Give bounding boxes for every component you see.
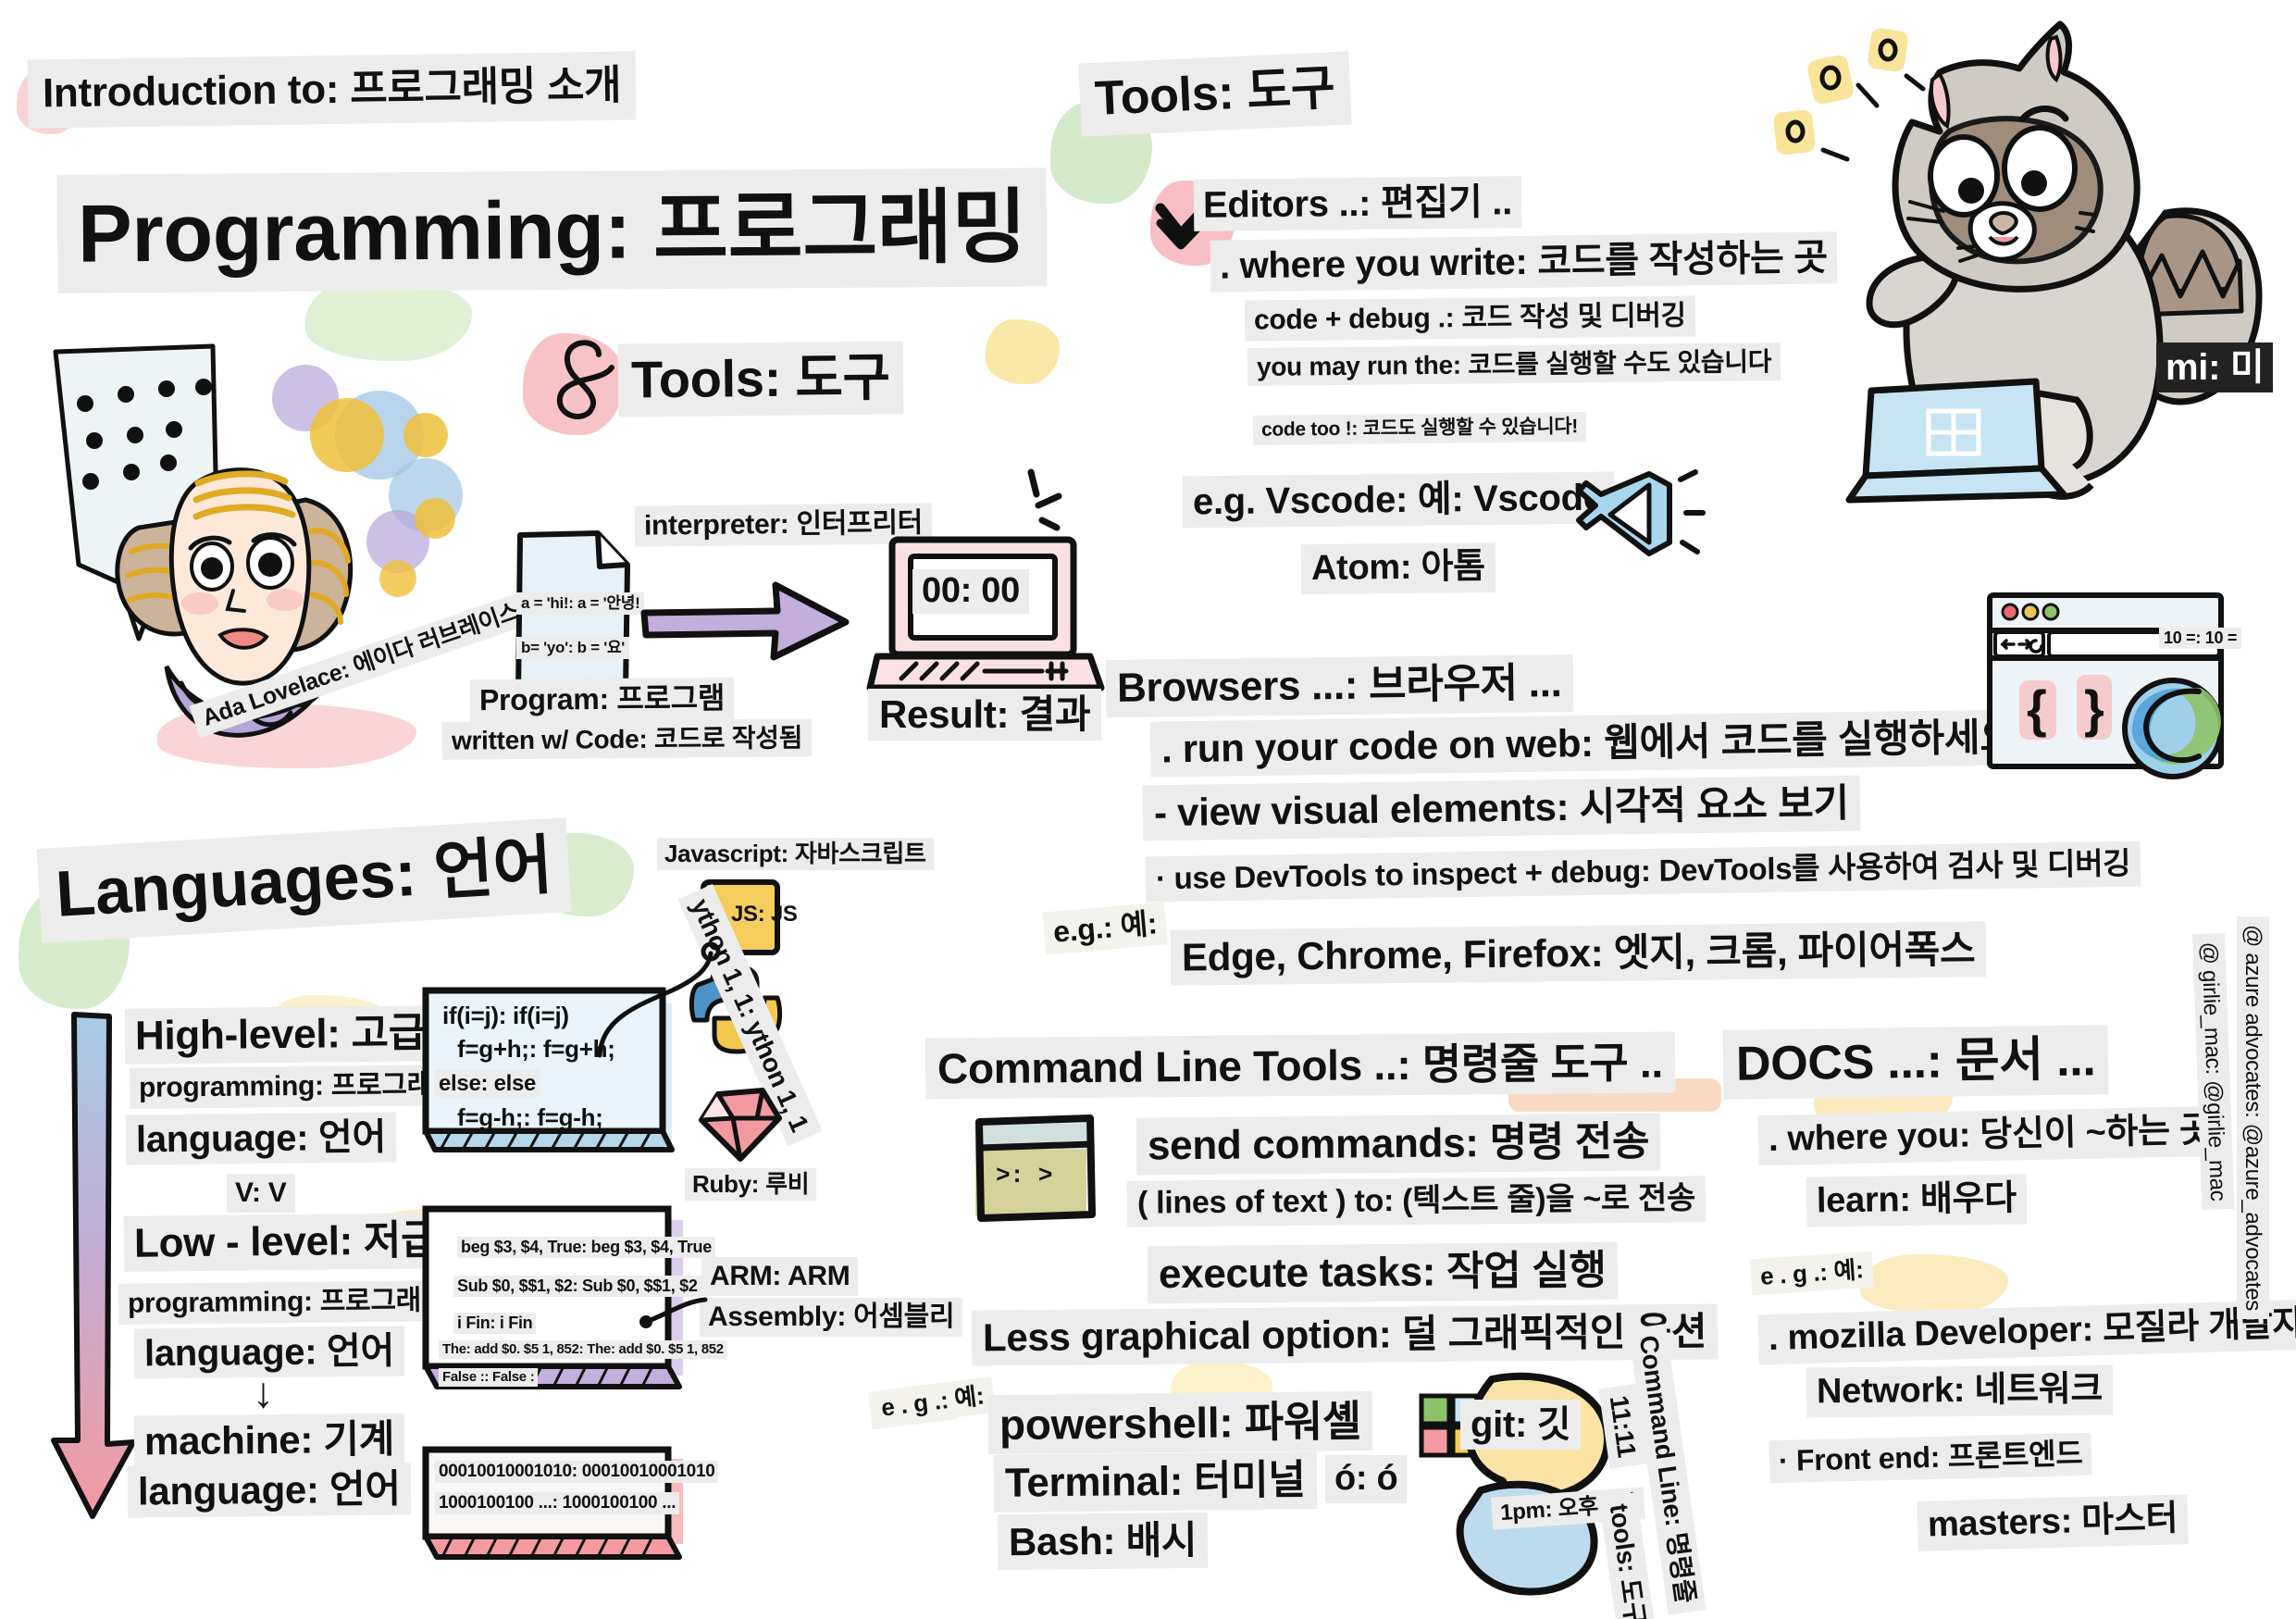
assembly-label: Assembly: 어셈블리 — [700, 1298, 962, 1337]
javascript-tile-label: JS: JS — [724, 901, 805, 928]
editors-heading: Editors ..: 편집기 .. — [1194, 176, 1521, 231]
git-bubble-label: git: 깃 — [1460, 1400, 1581, 1450]
assembly-code-line-4: The: add $0. $5 1, 852: The: add $0. $5 … — [439, 1340, 727, 1359]
editors-line-1: . where you write: 코드를 작성하는 곳 — [1210, 231, 1838, 292]
ampersand-flourish-icon — [541, 338, 615, 421]
docs-example-network: Network: 네트워크 — [1806, 1365, 2114, 1418]
credit-azure-advocates: @ azure advocates: @azure_advocates — [2237, 916, 2269, 1319]
program-sub-label: written w/ Code: 코드로 작성됨 — [442, 718, 812, 760]
arm-label: ARM: ARM — [701, 1257, 858, 1296]
language-level-high-language: language: 언어 — [126, 1112, 397, 1164]
program-label: Program: 프로그램 — [470, 678, 734, 722]
browsers-eg-tag: e.g.: 예: — [1042, 902, 1168, 954]
browsers-heading: Browsers ...: 브라우저 ... — [1106, 654, 1573, 717]
browsers-line-1: . run your code on web: 웹에서 코드를 실행하세요 — [1150, 709, 2027, 777]
high-level-code-line-4: f=g-h;: f=g-h; — [453, 1103, 607, 1132]
intro-tools-label: Tools: 도구 — [618, 341, 904, 417]
program-code-line-2: b= 'yo': b = '요' — [516, 637, 629, 659]
editors-line-4: code too !: 코드도 실행할 수 있습니다! — [1253, 412, 1586, 445]
docs-line-2: learn: 배우다 — [1806, 1174, 2028, 1227]
assembly-code-line-3: i Fin: i Fin — [453, 1313, 536, 1334]
javascript-label: Javascript: 자바스크립트 — [657, 838, 934, 870]
terminal-prompt-text: >: > — [988, 1162, 1060, 1190]
languages-heading: Languages: 언어 — [36, 817, 571, 942]
highlight-blob-yellow-1 — [986, 319, 1060, 384]
browsers-line-3: · use DevTools to inspect + debug: DevTo… — [1146, 841, 2141, 903]
sketchnote-canvas: Introduction to: 프로그래밍 소개 Programming: 프… — [0, 0, 2296, 1619]
tools-heading: Tools: 도구 — [1078, 51, 1351, 136]
browsers-line-2: - view visual elements: 시각적 요소 보기 — [1143, 776, 1861, 841]
assembly-code-line-1: beg $3, $4, True: beg $3, $4, True — [457, 1237, 715, 1258]
editors-line-2: code + debug .: 코드 작성 및 디버깅 — [1245, 295, 1695, 341]
result-label: Result: 결과 — [868, 689, 1101, 741]
result-screen-value: 00: 00 — [912, 569, 1029, 614]
intro-kicker: Introduction to: 프로그래밍 소개 — [28, 51, 637, 128]
browser-url-value: 10 =: 10 = — [2159, 628, 2241, 649]
page-title: Programming: 프로그래밍 — [57, 168, 1048, 293]
editors-example-atom: Atom: 아톰 — [1301, 542, 1496, 594]
language-level-low: Low - level: 저급 — [124, 1213, 449, 1272]
assembly-code-line-5: False :: False : — [439, 1368, 538, 1387]
program-code-line-1: a = 'hi!: a = '안녕! — [516, 592, 644, 615]
cli-example-powershell: powershell: 파워셸 — [988, 1391, 1373, 1455]
terminal-time-value: ó: ó — [1325, 1455, 1407, 1503]
docs-example-mozilla: . mozilla Developer: 모질라 개발자 — [1757, 1300, 2296, 1365]
high-level-code-line-1: if(i=j): if(i=j) — [439, 1002, 573, 1030]
cli-line-2: ( lines of text ) to: (텍스트 줄)을 ~로 전송 — [1127, 1176, 1706, 1227]
cli-line-1: send commands: 명령 전송 — [1136, 1114, 1661, 1176]
highlight-blob-yellow-4 — [1860, 1254, 2008, 1314]
browser-window-illustration: { } — [1980, 588, 2258, 782]
ruby-label: Ruby: 루비 — [685, 1168, 816, 1201]
cli-line-3: execute tasks: 작업 실행 — [1148, 1242, 1618, 1304]
language-level-v: V: V — [227, 1174, 295, 1213]
editors-line-3: you may run the: 코드를 실행할 수도 있습니다 — [1247, 342, 1781, 386]
svg-text:{: { — [2027, 679, 2047, 738]
language-level-machine-language: language: 언어 — [128, 1463, 411, 1517]
binary-code-line-1: 00010010001010: 00010010001010 — [435, 1461, 718, 1483]
binary-code-line-2: 1000100100 ...: 1000100100 ... — [435, 1492, 679, 1514]
credit-girlie-mac: @ girlie_mac: @girlie_mac — [2192, 933, 2235, 1210]
assembly-pointer-icon — [639, 1292, 713, 1339]
language-level-low-programming: programming: 프로그래밍 — [118, 1280, 456, 1324]
program-paper-illustration — [509, 528, 639, 704]
ruby-logo-icon — [694, 1081, 787, 1169]
language-level-machine: machine: 기계 — [134, 1413, 405, 1467]
vscode-logo-icon — [1573, 463, 1684, 565]
result-laptop-illustration — [870, 532, 1101, 708]
docs-heading: DOCS ...: 문서 ... — [1722, 1025, 2108, 1099]
language-level-high-programming: programming: 프로그래밍 — [130, 1065, 467, 1108]
editors-example-vscode: e.g. Vscode: 예: Vscode — [1183, 472, 1614, 529]
sparkle-lines-icon — [998, 463, 1072, 546]
browsers-examples: Edge, Chrome, Firefox: 엣지, 크롬, 파이어폭스 — [1171, 921, 1987, 985]
cli-example-terminal: Terminal: 터미널 — [994, 1451, 1317, 1513]
language-down-arrow-icon: ↓ — [245, 1368, 281, 1416]
cli-heading: Command Line Tools ..: 명령줄 도구 .. — [925, 1031, 1675, 1099]
languages-connector-icon — [592, 944, 740, 1065]
high-level-code-line-3: else: else — [435, 1070, 540, 1097]
docs-example-frontend: · Front end: 프론트엔드 — [1769, 1433, 2091, 1483]
cli-line-4: Less graphical option: 덜 그래픽적인 옵션 — [972, 1303, 1719, 1365]
cli-eg-tag: e . g .: 예: — [870, 1376, 995, 1427]
language-level-high: High-level: 고급 — [125, 1005, 437, 1065]
mascot-tail-label: mi: 미 — [2156, 342, 2273, 392]
docs-eg-tag: e . g .: 예: — [1750, 1251, 1874, 1295]
cli-example-bash: Bash: 배시 — [998, 1513, 1209, 1570]
svg-text:}: } — [2084, 679, 2104, 738]
raccoon-mascot-illustration — [1758, 19, 2277, 537]
interpreter-arrow-icon — [639, 565, 861, 676]
docs-line-1: . where you: 당신이 ~하는 곳 — [1757, 1106, 2222, 1165]
docs-example-masters: masters: 마스터 — [1917, 1494, 2189, 1551]
